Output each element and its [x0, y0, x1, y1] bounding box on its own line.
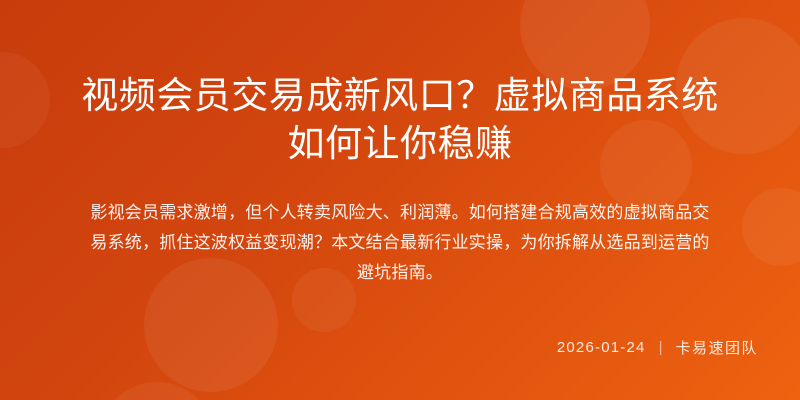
- publish-date: 2026-01-24: [557, 339, 646, 356]
- card-meta: 2026-01-24 | 卡易速团队: [557, 337, 758, 358]
- page-title: 视频会员交易成新风口？虚拟商品系统 如何让你稳赚: [32, 72, 768, 168]
- article-summary: 影视会员需求激增，但个人转卖风险大、利润薄。如何搭建合规高效的虚拟商品交 易系统…: [90, 198, 709, 288]
- summary-line-1: 影视会员需求激增，但个人转卖风险大、利润薄。如何搭建合规高效的虚拟商品交: [90, 198, 709, 228]
- title-line-2: 如何让你稳赚: [32, 120, 768, 168]
- article-cover-card: 视频会员交易成新风口？虚拟商品系统 如何让你稳赚 影视会员需求激增，但个人转卖风…: [0, 0, 800, 400]
- summary-line-2: 易系统，抓住这波权益变现潮？本文结合最新行业实操，为你拆解从选品到运营的: [90, 228, 709, 258]
- summary-line-3: 避坑指南。: [90, 258, 709, 288]
- title-line-1: 视频会员交易成新风口？虚拟商品系统: [32, 72, 768, 120]
- meta-separator: |: [659, 339, 663, 356]
- card-content: 视频会员交易成新风口？虚拟商品系统 如何让你稳赚 影视会员需求激增，但个人转卖风…: [0, 0, 800, 400]
- author-name: 卡易速团队: [675, 337, 758, 358]
